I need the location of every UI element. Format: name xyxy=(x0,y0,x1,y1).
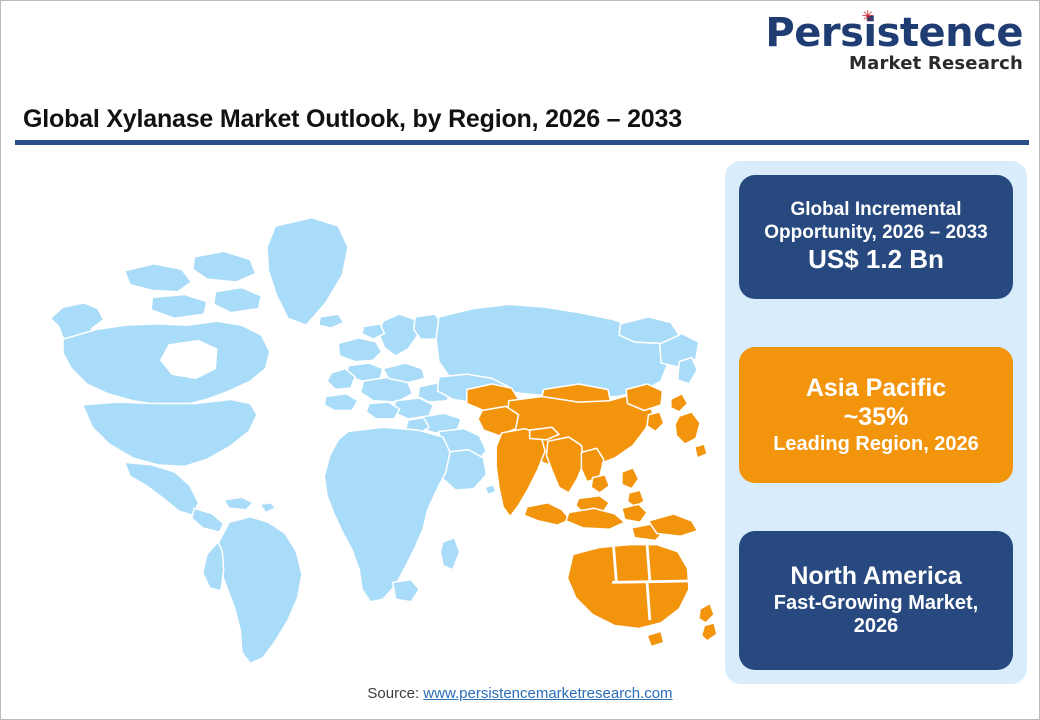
logo-main-text: Persistence xyxy=(765,10,1023,56)
logo-wordmark: Persistence ✳ xyxy=(765,13,1023,53)
page-title: Global Xylanase Market Outlook, by Regio… xyxy=(23,105,682,134)
card-3-region: North America xyxy=(790,562,961,592)
infographic-frame: Persistence ✳ Market Research Global Xyl… xyxy=(0,0,1040,720)
company-logo: Persistence ✳ Market Research xyxy=(765,13,1023,73)
card-2-value: ~35% xyxy=(844,403,909,433)
world-map-svg xyxy=(19,159,719,669)
card-3-caption: Fast-Growing Market, xyxy=(774,592,978,616)
stats-panel: Global Incremental Opportunity, 2026 – 2… xyxy=(725,161,1027,684)
source-line: Source: www.persistencemarketresearch.co… xyxy=(1,685,1039,702)
source-label: Source: xyxy=(367,685,423,702)
stat-card-fast-growing-market[interactable]: North America Fast-Growing Market, 2026 xyxy=(739,531,1013,670)
title-divider xyxy=(15,140,1029,145)
card-1-line2: Opportunity, 2026 – 2033 xyxy=(764,222,988,244)
logo-tagline: Market Research xyxy=(765,55,1023,73)
card-1-value: US$ 1.2 Bn xyxy=(808,244,944,275)
card-3-year: 2026 xyxy=(854,615,899,639)
map-region-asia-pacific xyxy=(467,384,717,647)
red-star-icon: ✳ xyxy=(861,10,873,22)
card-1-line1: Global Incremental xyxy=(790,199,961,221)
world-map xyxy=(19,159,719,669)
source-link[interactable]: www.persistencemarketresearch.com xyxy=(423,685,672,702)
card-2-region: Asia Pacific xyxy=(806,374,946,404)
stat-card-leading-region[interactable]: Asia Pacific ~35% Leading Region, 2026 xyxy=(739,347,1013,483)
card-2-caption: Leading Region, 2026 xyxy=(773,433,979,457)
stat-card-global-incremental-opportunity[interactable]: Global Incremental Opportunity, 2026 – 2… xyxy=(739,175,1013,299)
